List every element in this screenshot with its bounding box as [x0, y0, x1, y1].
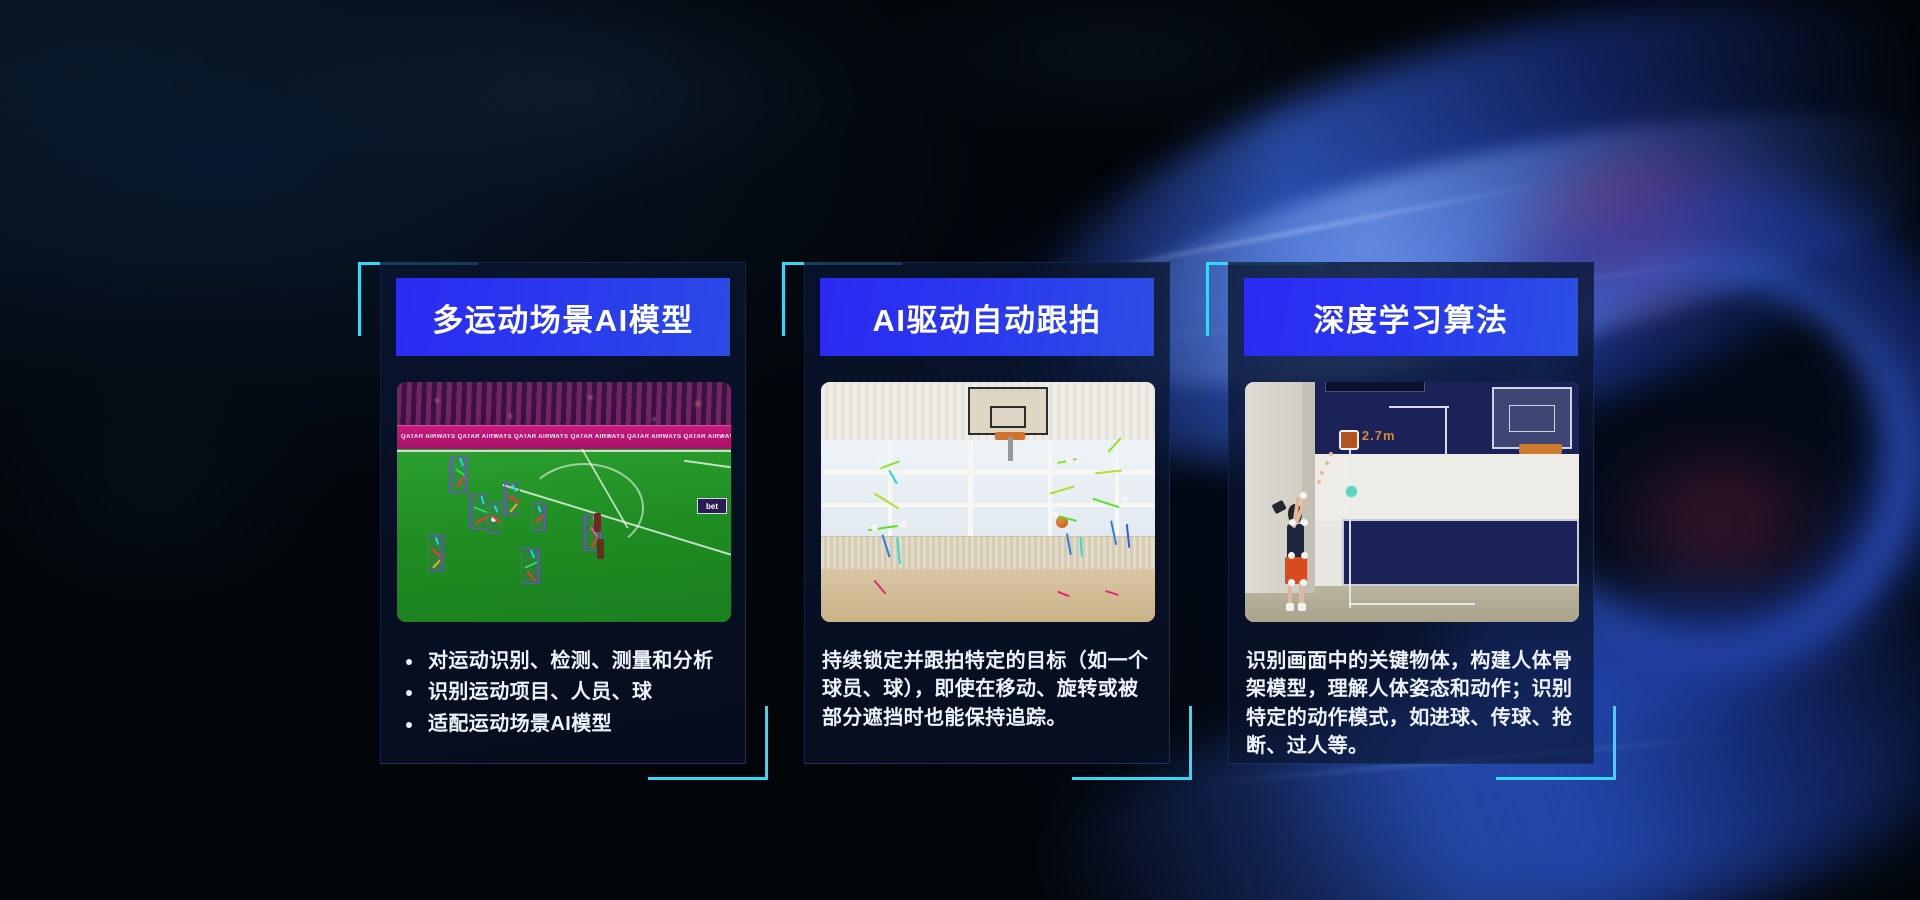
pose-limb — [1057, 591, 1070, 598]
advertising-banner-text: QATAR AIRWAYS QATAR AIRWAYS QATAR AIRWAY… — [397, 434, 731, 440]
tracking-guide-line-bottom — [1349, 603, 1476, 605]
pose-joint — [1289, 519, 1296, 526]
window-mullion — [968, 440, 973, 536]
basketball-backboard — [1492, 387, 1572, 449]
pose-limb — [1126, 524, 1131, 548]
soccer-scene: QATAR AIRWAYS QATAR AIRWAYS QATAR AIRWAY… — [397, 382, 731, 622]
feature-card-multi-sport-model[interactable]: 多运动场景AI模型 QATAR AIRWAYS QATAR AIRWAYS QA… — [358, 262, 746, 764]
advertising-banner: QATAR AIRWAYS QATAR AIRWAYS QATAR AIRWAY… — [397, 425, 731, 449]
pose-joint — [1122, 495, 1129, 502]
feature-card-ai-auto-tracking[interactable]: AI驱动自动跟拍 — [782, 262, 1170, 764]
list-item: 适配运动场景AI模型 — [398, 710, 728, 738]
unboxed-player — [594, 513, 601, 532]
pose-limb — [1105, 590, 1119, 596]
tracking-guide-line-top — [1389, 406, 1449, 408]
soccer-pitch-detection-thumbnail[interactable]: QATAR AIRWAYS QATAR AIRWAYS QATAR AIRWAY… — [397, 382, 731, 622]
card-content: 多运动场景AI模型 QATAR AIRWAYS QATAR AIRWAYS QA… — [380, 262, 746, 764]
pose-joint — [871, 524, 878, 531]
gym-basketball-pose-thumbnail[interactable] — [821, 382, 1155, 622]
card-content: AI驱动自动跟拍 — [804, 262, 1170, 764]
pose-limb — [534, 514, 544, 523]
pose-skeleton-player-right — [1088, 444, 1151, 612]
card-bullet-list: 对运动识别、检测、测量和分析 识别运动项目、人员、球 适配运动场景AI模型 — [396, 647, 730, 738]
player-bbox — [531, 503, 545, 531]
pose-limb — [432, 559, 441, 569]
pose-limb — [511, 484, 517, 492]
player-bbox — [504, 482, 520, 516]
player-bbox — [450, 456, 467, 493]
pose-limb — [509, 503, 518, 513]
scoreboard — [1325, 382, 1425, 392]
pose-limb — [524, 561, 538, 569]
pose-limb — [1110, 520, 1117, 545]
basketball-rim — [1519, 444, 1562, 454]
pose-limb — [873, 580, 886, 595]
pose-skeleton-player-left — [864, 461, 944, 610]
pitch-line-box — [684, 460, 731, 468]
pose-limb — [881, 534, 890, 557]
pitch-line-top — [397, 450, 731, 452]
pose-limb — [874, 492, 900, 509]
pose-limb — [481, 496, 485, 505]
tracking-scene: 2.7m — [1245, 382, 1579, 622]
pose-limb — [537, 505, 541, 512]
tracking-guide-line-vertical — [1445, 406, 1447, 459]
player-shoe — [1286, 603, 1293, 611]
shooting-player — [1275, 492, 1322, 612]
pose-limb — [896, 538, 901, 565]
pose-joint — [1066, 457, 1073, 464]
gym-scene — [821, 382, 1155, 622]
gym-wall-pad — [1342, 519, 1579, 586]
ball-tracking-box — [1339, 430, 1359, 450]
pose-limb — [491, 514, 501, 523]
unboxed-player — [597, 539, 604, 559]
pose-joint — [876, 461, 883, 468]
pose-limb — [1066, 533, 1072, 555]
pose-limb — [526, 570, 536, 581]
card-description: 识别画面中的关键物体，构建人体骨架模型，理解人体姿态和动作；识别特定的动作模式，… — [1244, 647, 1578, 761]
pose-limb — [435, 537, 439, 545]
pose-limb — [431, 548, 442, 558]
list-item: 识别运动项目、人员、球 — [398, 678, 728, 706]
pose-joint — [1301, 552, 1308, 559]
pose-limb — [494, 505, 499, 513]
distance-label: 2.7m — [1362, 428, 1396, 443]
card-title: 多运动场景AI模型 — [396, 278, 730, 356]
pose-joint — [1288, 579, 1295, 586]
pose-limb — [1092, 497, 1119, 508]
player-bbox — [487, 503, 502, 533]
basketball-backboard — [968, 387, 1048, 435]
list-item: 对运动识别、检测、测量和分析 — [398, 647, 728, 675]
backboard-post — [1008, 437, 1013, 461]
pose-joint — [1111, 461, 1118, 468]
pose-limb — [455, 468, 466, 477]
feature-card-deep-learning[interactable]: 深度学习算法 — [1206, 262, 1594, 764]
tracking-guide-line-left — [1349, 435, 1351, 608]
card-content: 深度学习算法 — [1228, 262, 1594, 764]
player-bbox — [521, 548, 539, 584]
player-bbox — [427, 534, 443, 572]
pitchside-bet-sign: bet — [697, 498, 727, 514]
card-title: AI驱动自动跟拍 — [820, 278, 1154, 356]
pose-joint — [1301, 519, 1308, 526]
feature-card-row: 多运动场景AI模型 QATAR AIRWAYS QATAR AIRWAYS QA… — [0, 0, 1920, 900]
pose-limb — [1050, 485, 1076, 494]
basketball-shot-tracking-thumbnail[interactable]: 2.7m — [1245, 382, 1579, 622]
pose-joint — [1300, 579, 1307, 586]
card-description: 持续锁定并跟拍特定的目标（如一个球员、球），即使在移动、旋转或被部分遮挡时也能保… — [820, 647, 1154, 732]
pose-limb — [459, 458, 464, 467]
pose-limb — [507, 495, 519, 503]
pose-limb — [529, 549, 534, 558]
player-shoe — [1298, 603, 1305, 611]
soccer-pitch: bet — [397, 449, 731, 622]
pose-joint — [896, 470, 903, 477]
pose-limb — [1079, 537, 1082, 558]
trajectory-dot — [1329, 452, 1333, 456]
pose-joint — [900, 521, 907, 528]
pose-limb — [456, 476, 465, 488]
pose-limb — [1094, 470, 1121, 475]
trajectory-dot — [1320, 471, 1324, 475]
pose-joint — [1052, 511, 1059, 518]
card-title: 深度学习算法 — [1244, 278, 1578, 356]
